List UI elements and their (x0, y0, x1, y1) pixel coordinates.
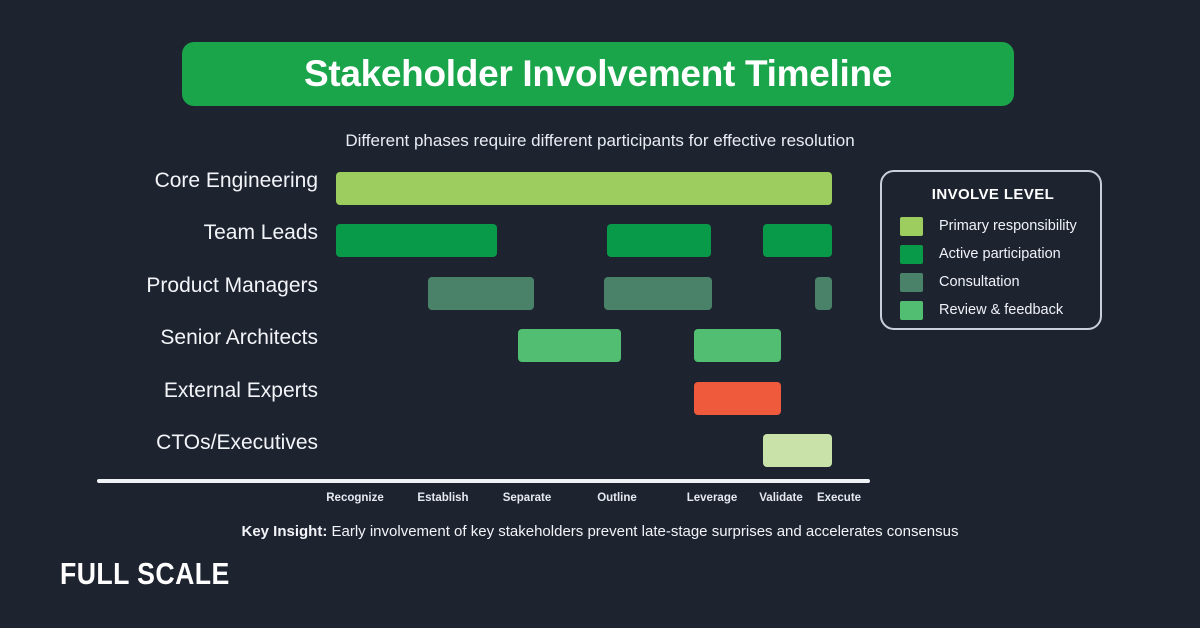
x-tick-label-1: Recognize (326, 492, 384, 504)
x-tick-label-2: Establish (417, 492, 468, 504)
row-label-text: Team Leads (88, 221, 318, 245)
x-tick-label-3: Separate (503, 492, 552, 504)
row-label-3: Product Managers (88, 274, 318, 300)
row-label-1: Core Engineering (88, 169, 318, 195)
bar-segment[interactable] (604, 277, 712, 310)
bar-segment[interactable] (763, 434, 832, 467)
bar-segment[interactable] (815, 277, 832, 310)
row-label-text: Product Managers (88, 274, 318, 298)
legend-panel: INVOLVE LEVEL Primary responsibilityActi… (880, 170, 1102, 330)
row-label-text: External Experts (88, 379, 318, 403)
bar-segment[interactable] (336, 172, 832, 205)
x-tick-label-5: Leverage (687, 492, 738, 504)
x-tick-label-7: Execute (817, 492, 861, 504)
legend-item-3[interactable]: Consultation (900, 272, 1020, 292)
legend-swatch-icon (900, 273, 923, 292)
row-label-text: CTOs/Executives (88, 431, 318, 455)
row-label-text: Core Engineering (88, 169, 318, 193)
legend-swatch-icon (900, 301, 923, 320)
bar-segment[interactable] (694, 329, 781, 362)
bar-segment[interactable] (428, 277, 534, 310)
row-label-6: CTOs/Executives (88, 431, 318, 457)
legend-item-label: Active participation (939, 246, 1061, 262)
row-label-text: Senior Architects (88, 326, 318, 350)
legend-item-4[interactable]: Review & feedback (900, 300, 1063, 320)
legend-title: INVOLVE LEVEL (882, 186, 1104, 203)
row-label-4: Senior Architects (88, 326, 318, 352)
key-insight: Key Insight: Early involvement of key st… (0, 523, 1200, 540)
bar-segment[interactable] (763, 224, 832, 257)
legend-item-label: Primary responsibility (939, 218, 1077, 234)
x-tick-label-6: Validate (759, 492, 802, 504)
legend-item-2[interactable]: Active participation (900, 244, 1061, 264)
legend-swatch-icon (900, 245, 923, 264)
bar-segment[interactable] (694, 382, 781, 415)
full-scale-logo: FULL SCALE (60, 556, 230, 592)
legend-item-1[interactable]: Primary responsibility (900, 216, 1077, 236)
infographic-canvas: Stakeholder Involvement Timeline Differe… (0, 0, 1200, 628)
key-insight-label: Key Insight: (241, 523, 327, 540)
row-label-2: Team Leads (88, 221, 318, 247)
x-axis-line (97, 479, 870, 483)
x-tick-label-4: Outline (597, 492, 637, 504)
bar-segment[interactable] (607, 224, 711, 257)
bar-segment[interactable] (336, 224, 497, 257)
key-insight-text: Early involvement of key stakeholders pr… (327, 523, 958, 540)
legend-item-label: Consultation (939, 274, 1020, 290)
legend-swatch-icon (900, 217, 923, 236)
legend-item-label: Review & feedback (939, 302, 1063, 318)
row-label-5: External Experts (88, 379, 318, 405)
bar-segment[interactable] (518, 329, 621, 362)
